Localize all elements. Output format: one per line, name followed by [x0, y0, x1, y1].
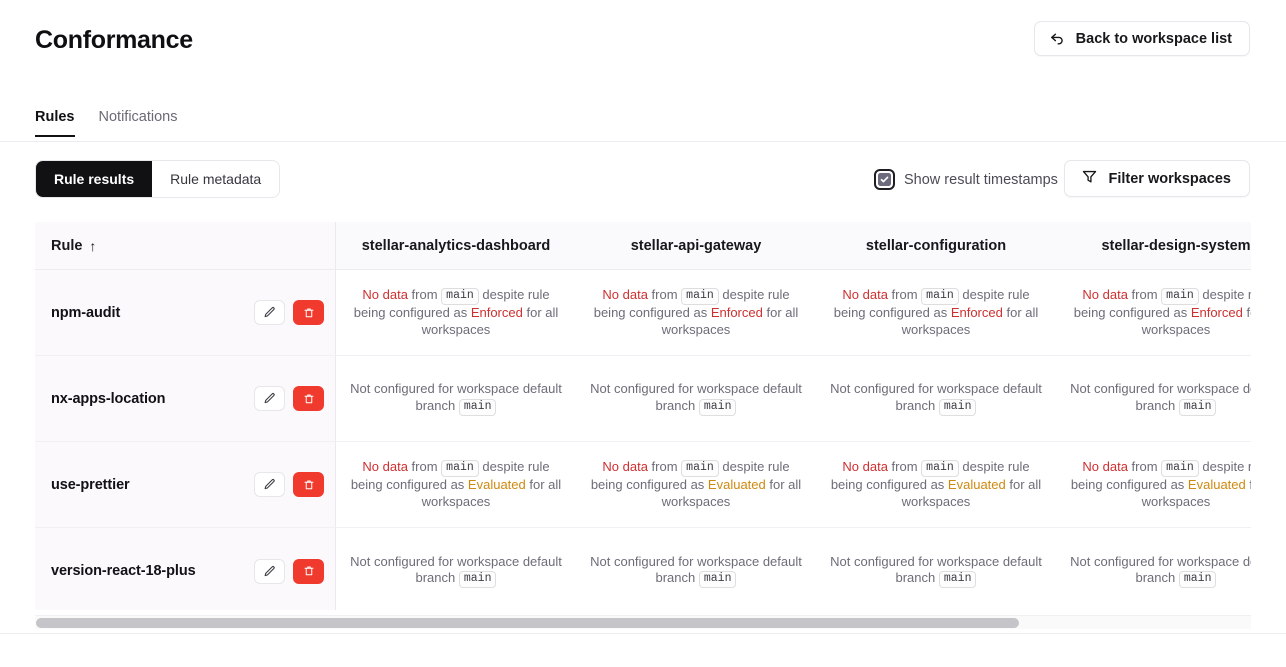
result-cell-text: Not configured for workspace default bra…	[346, 554, 566, 589]
horizontal-scrollbar-track[interactable]	[35, 615, 1251, 629]
status-label: No data	[362, 287, 408, 302]
column-header-rule-label: Rule	[51, 238, 82, 254]
delete-rule-button[interactable]	[293, 559, 324, 584]
delete-rule-button[interactable]	[293, 300, 324, 325]
result-cell-text: No data from main despite rule being con…	[586, 459, 806, 510]
rule-name: nx-apps-location	[51, 391, 254, 407]
delete-rule-button[interactable]	[293, 472, 324, 497]
result-cell: Not configured for workspace default bra…	[576, 356, 816, 441]
tab-notifications-label: Notifications	[99, 109, 178, 125]
view-mode-segmented-control: Rule results Rule metadata	[35, 160, 280, 198]
conformance-page: Conformance Back to workspace list Rules…	[0, 0, 1286, 667]
result-cell-text: No data from main despite rule being con…	[826, 459, 1046, 510]
branch-code-chip: main	[681, 288, 719, 305]
status-label: No data	[1082, 459, 1128, 474]
table-row: npm-auditNo data from main despite rule …	[35, 270, 1251, 356]
result-cell-text: Not configured for workspace default bra…	[826, 381, 1046, 416]
column-header-rule[interactable]: Rule ↑	[35, 222, 336, 269]
result-cell-text: No data from main despite rule being con…	[826, 287, 1046, 338]
branch-code-chip: main	[459, 571, 497, 588]
status-evaluated: Evaluated	[708, 477, 766, 492]
checkbox-box	[878, 173, 891, 186]
status-label: Enforced	[1191, 305, 1243, 320]
status-label: Enforced	[711, 305, 763, 320]
status-evaluated: Evaluated	[468, 477, 526, 492]
horizontal-scrollbar-thumb[interactable]	[36, 618, 1019, 628]
rule-cell: npm-audit	[35, 270, 336, 355]
result-cell: Not configured for workspace default bra…	[816, 528, 1056, 610]
toolbar: Rule results Rule metadata Show result t…	[0, 160, 1286, 200]
result-cell: Not configured for workspace default bra…	[336, 356, 576, 441]
edit-rule-button[interactable]	[254, 472, 285, 497]
branch-code-chip: main	[459, 399, 497, 416]
branch-code-chip: main	[1161, 460, 1199, 477]
result-cell-text: No data from main despite rule being con…	[346, 287, 566, 338]
branch-code-chip: main	[699, 399, 737, 416]
tab-bar: Rules Notifications	[35, 108, 189, 137]
trash-icon	[303, 479, 315, 491]
filter-workspaces-button[interactable]: Filter workspaces	[1064, 160, 1251, 197]
result-cell: No data from main despite rule being con…	[336, 270, 576, 355]
status-label: No data	[842, 459, 888, 474]
delete-rule-button[interactable]	[293, 386, 324, 411]
status-label: No data	[842, 287, 888, 302]
table-body: npm-auditNo data from main despite rule …	[35, 270, 1251, 610]
status-label: Enforced	[471, 305, 523, 320]
column-header-workspace-label: stellar-api-gateway	[631, 238, 762, 254]
trash-icon	[303, 307, 315, 319]
result-cell-text: Not configured for workspace default bra…	[826, 554, 1046, 589]
results-table-viewport: Rule ↑ stellar-analytics-dashboard stell…	[35, 222, 1251, 610]
result-cell-text: Not configured for workspace default bra…	[586, 554, 806, 589]
result-cell: Not configured for workspace default bra…	[336, 528, 576, 610]
result-cell: No data from main despite rule being con…	[816, 442, 1056, 527]
checkmark-icon	[880, 175, 889, 184]
segment-rule-metadata[interactable]: Rule metadata	[152, 161, 279, 197]
branch-code-chip: main	[441, 288, 479, 305]
tab-rules[interactable]: Rules	[35, 108, 87, 137]
result-cell-text: No data from main despite rule being con…	[1066, 459, 1251, 510]
branch-code-chip: main	[1179, 399, 1217, 416]
column-header-workspace[interactable]: stellar-design-system	[1056, 222, 1251, 269]
branch-code-chip: main	[939, 571, 977, 588]
bottom-divider	[0, 633, 1286, 634]
sort-ascending-icon: ↑	[89, 238, 96, 254]
rule-cell: use-prettier	[35, 442, 336, 527]
pencil-icon	[263, 306, 276, 319]
result-cell: No data from main despite rule being con…	[1056, 442, 1251, 527]
column-header-workspace[interactable]: stellar-api-gateway	[576, 222, 816, 269]
status-label: No data	[602, 459, 648, 474]
result-cell-text: No data from main despite rule being con…	[586, 287, 806, 338]
pencil-icon	[263, 392, 276, 405]
segment-rule-metadata-label: Rule metadata	[170, 171, 261, 187]
checkbox-focus-ring	[874, 169, 895, 190]
branch-code-chip: main	[699, 571, 737, 588]
rule-name: version-react-18-plus	[51, 563, 254, 579]
back-button-label: Back to workspace list	[1076, 31, 1232, 47]
table-row: use-prettierNo data from main despite ru…	[35, 442, 1251, 528]
status-label: No data	[1082, 287, 1128, 302]
segment-rule-results-label: Rule results	[54, 171, 134, 187]
trash-icon	[303, 393, 315, 405]
result-cell: Not configured for workspace default bra…	[1056, 528, 1251, 610]
status-label: No data	[602, 287, 648, 302]
pencil-icon	[263, 478, 276, 491]
status-label: Enforced	[951, 305, 1003, 320]
column-header-workspace[interactable]: stellar-configuration	[816, 222, 1056, 269]
row-actions	[254, 559, 324, 584]
back-arrow-icon	[1049, 30, 1066, 47]
pencil-icon	[263, 565, 276, 578]
result-cell: No data from main despite rule being con…	[576, 442, 816, 527]
status-evaluated: Evaluated	[948, 477, 1006, 492]
branch-code-chip: main	[1179, 571, 1217, 588]
table-row: nx-apps-locationNot configured for works…	[35, 356, 1251, 442]
tab-notifications[interactable]: Notifications	[87, 108, 190, 137]
rule-name: use-prettier	[51, 477, 254, 493]
result-cell-text: Not configured for workspace default bra…	[346, 381, 566, 416]
result-cell: Not configured for workspace default bra…	[1056, 356, 1251, 441]
column-header-workspace[interactable]: stellar-analytics-dashboard	[336, 222, 576, 269]
branch-code-chip: main	[1161, 288, 1199, 305]
edit-rule-button[interactable]	[254, 559, 285, 584]
page-title: Conformance	[35, 25, 193, 55]
branch-code-chip: main	[921, 460, 959, 477]
edit-rule-button[interactable]	[254, 300, 285, 325]
tab-divider	[0, 141, 1286, 142]
table-row: version-react-18-plusNot configured for …	[35, 528, 1251, 610]
back-to-workspace-list-button[interactable]: Back to workspace list	[1034, 21, 1250, 56]
results-table: Rule ↑ stellar-analytics-dashboard stell…	[35, 222, 1251, 610]
result-cell-text: Not configured for workspace default bra…	[586, 381, 806, 416]
row-actions	[254, 300, 324, 325]
status-evaluated: Evaluated	[1188, 477, 1246, 492]
show-result-timestamps-label: Show result timestamps	[904, 172, 1058, 188]
branch-code-chip: main	[441, 460, 479, 477]
rule-name: npm-audit	[51, 305, 254, 321]
branch-code-chip: main	[939, 399, 977, 416]
result-cell: No data from main despite rule being con…	[1056, 270, 1251, 355]
rule-cell: nx-apps-location	[35, 356, 336, 441]
column-header-workspace-label: stellar-analytics-dashboard	[362, 238, 551, 254]
result-cell-text: No data from main despite rule being con…	[346, 459, 566, 510]
filter-workspaces-label: Filter workspaces	[1109, 171, 1232, 187]
column-header-workspace-label: stellar-configuration	[866, 238, 1006, 254]
table-header-row: Rule ↑ stellar-analytics-dashboard stell…	[35, 222, 1251, 270]
result-cell: Not configured for workspace default bra…	[816, 356, 1056, 441]
column-header-workspace-label: stellar-design-system	[1101, 238, 1250, 254]
result-cell-text: Not configured for workspace default bra…	[1066, 381, 1251, 416]
result-cell-text: Not configured for workspace default bra…	[1066, 554, 1251, 589]
result-cell-text: No data from main despite rule being con…	[1066, 287, 1251, 338]
rule-cell: version-react-18-plus	[35, 528, 336, 610]
row-actions	[254, 386, 324, 411]
status-label: No data	[362, 459, 408, 474]
segment-rule-results[interactable]: Rule results	[36, 161, 152, 197]
show-result-timestamps-checkbox[interactable]: Show result timestamps	[874, 169, 1058, 190]
result-cell: Not configured for workspace default bra…	[576, 528, 816, 610]
page-header: Conformance Back to workspace list	[0, 0, 1286, 80]
branch-code-chip: main	[681, 460, 719, 477]
tab-rules-label: Rules	[35, 109, 75, 125]
edit-rule-button[interactable]	[254, 386, 285, 411]
result-cell: No data from main despite rule being con…	[576, 270, 816, 355]
branch-code-chip: main	[921, 288, 959, 305]
trash-icon	[303, 565, 315, 577]
funnel-icon	[1081, 168, 1098, 189]
row-actions	[254, 472, 324, 497]
result-cell: No data from main despite rule being con…	[336, 442, 576, 527]
result-cell: No data from main despite rule being con…	[816, 270, 1056, 355]
